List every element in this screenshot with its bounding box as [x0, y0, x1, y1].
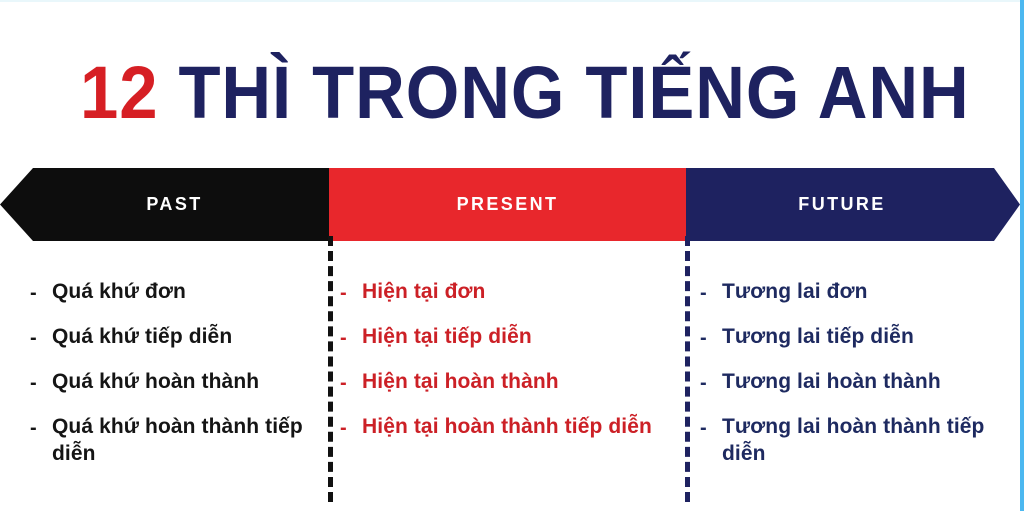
- bullet-dash-icon: -: [340, 278, 362, 308]
- tense-label: Hiện tại hoàn thành: [362, 368, 559, 395]
- tense-label: Quá khứ hoàn thành: [52, 368, 259, 395]
- list-item[interactable]: - Hiện tại đơn: [340, 278, 685, 310]
- banner-label-past: PAST: [146, 194, 202, 215]
- tense-label: Tương lai đơn: [722, 278, 868, 305]
- tense-label: Hiện tại tiếp diễn: [362, 323, 532, 350]
- tense-label: Hiện tại đơn: [362, 278, 485, 305]
- tense-list-present: - Hiện tại đơn - Hiện tại tiếp diễn - Hi…: [340, 278, 685, 458]
- infographic-page: 12 THÌ TRONG TIẾNG ANH PAST PRESENT FUTU…: [0, 0, 1024, 511]
- bullet-dash-icon: -: [700, 278, 722, 308]
- tense-list-future: - Tương lai đơn - Tương lai tiếp diễn - …: [700, 278, 1010, 480]
- bullet-dash-icon: -: [340, 368, 362, 398]
- list-item[interactable]: - Hiện tại tiếp diễn: [340, 323, 685, 355]
- bullet-dash-icon: -: [700, 368, 722, 398]
- list-item[interactable]: - Quá khứ hoàn thành: [30, 368, 330, 400]
- page-title: 12 THÌ TRONG TIẾNG ANH: [80, 48, 898, 138]
- right-edge-rule: [1020, 0, 1024, 511]
- tense-label: Tương lai hoàn thành tiếp diễn: [722, 413, 1010, 467]
- list-item[interactable]: - Tương lai đơn: [700, 278, 1010, 310]
- banner-segment-future[interactable]: FUTURE: [686, 168, 1020, 241]
- list-item[interactable]: - Quá khứ hoàn thành tiếp diễn: [30, 413, 330, 467]
- page-title-number: 12: [80, 51, 158, 134]
- divider-present-future: [685, 236, 690, 502]
- tense-list-past: - Quá khứ đơn - Quá khứ tiếp diễn - Quá …: [30, 278, 330, 480]
- tense-label: Tương lai tiếp diễn: [722, 323, 914, 350]
- list-item[interactable]: - Quá khứ tiếp diễn: [30, 323, 330, 355]
- bullet-dash-icon: -: [700, 413, 722, 443]
- list-item[interactable]: - Tương lai tiếp diễn: [700, 323, 1010, 355]
- bullet-dash-icon: -: [30, 413, 52, 443]
- bullet-dash-icon: -: [30, 368, 52, 398]
- banner-segment-past[interactable]: PAST: [0, 168, 329, 241]
- tense-label: Quá khứ hoàn thành tiếp diễn: [52, 413, 330, 467]
- list-item[interactable]: - Hiện tại hoàn thành: [340, 368, 685, 400]
- bullet-dash-icon: -: [340, 323, 362, 353]
- tense-label: Quá khứ tiếp diễn: [52, 323, 232, 350]
- list-item[interactable]: - Tương lai hoàn thành tiếp diễn: [700, 413, 1010, 467]
- list-item[interactable]: - Quá khứ đơn: [30, 278, 330, 310]
- top-edge-rule: [0, 0, 1024, 2]
- list-item[interactable]: - Tương lai hoàn thành: [700, 368, 1010, 400]
- bullet-dash-icon: -: [700, 323, 722, 353]
- banner-segment-present[interactable]: PRESENT: [329, 168, 686, 241]
- bullet-dash-icon: -: [30, 323, 52, 353]
- bullet-dash-icon: -: [340, 413, 362, 443]
- list-item[interactable]: - Hiện tại hoàn thành tiếp diễn: [340, 413, 685, 445]
- tense-label: Quá khứ đơn: [52, 278, 186, 305]
- tense-label: Hiện tại hoàn thành tiếp diễn: [362, 413, 652, 440]
- page-title-text: THÌ TRONG TIẾNG ANH: [158, 51, 969, 134]
- timeline-banner: PAST PRESENT FUTURE: [0, 168, 1020, 241]
- bullet-dash-icon: -: [30, 278, 52, 308]
- tense-label: Tương lai hoàn thành: [722, 368, 941, 395]
- banner-label-future: FUTURE: [798, 194, 885, 215]
- banner-label-present: PRESENT: [457, 194, 559, 215]
